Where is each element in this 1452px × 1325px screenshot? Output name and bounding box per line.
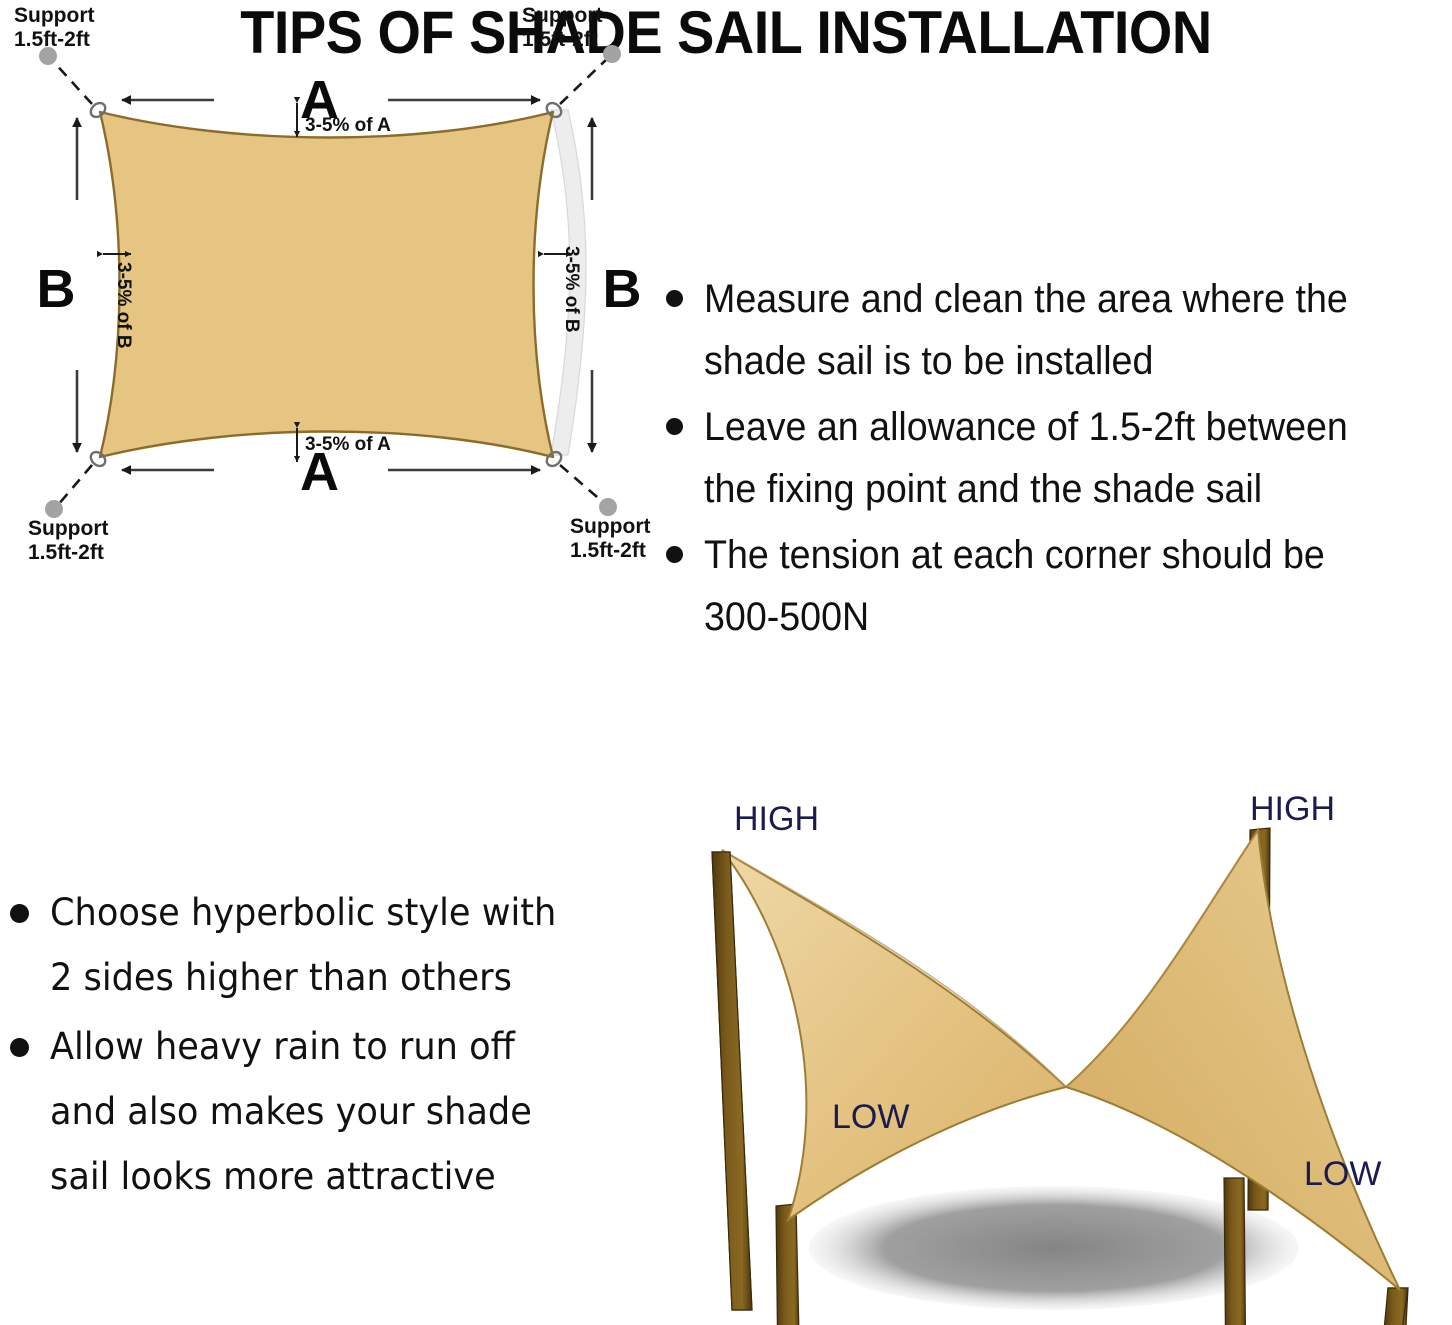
hyperbolic-tips-list: Choose hyperbolic style with 2 sides hig… <box>0 880 640 1260</box>
tip-line: 300-500N <box>704 586 1407 648</box>
support-label-bottom-right: Support 1.5ft-2ft <box>570 515 650 562</box>
tolerance-b-text: 3-5% of B <box>113 262 134 349</box>
tip-line: 2 sides higher than others <box>50 945 611 1010</box>
sail-membrane <box>100 112 553 457</box>
list-item: Leave an allowance of 1.5-2ft between th… <box>648 396 1452 520</box>
dimension-b-left: B <box>37 118 78 452</box>
tip-line: The tension at each corner should be <box>704 524 1407 586</box>
support-label-line1: Support <box>570 515 650 538</box>
support-label-line2: 1.5ft-2ft <box>522 28 598 51</box>
dimension-b-label: B <box>37 259 76 319</box>
support-label-line1: Support <box>14 4 94 27</box>
tolerance-a-text: 3-5% of A <box>305 434 391 455</box>
tolerance-b-right: 3-5% of B <box>544 246 582 333</box>
tolerance-b-text: 3-5% of B <box>561 246 582 333</box>
support-label-bottom-left: Support 1.5ft-2ft <box>28 517 108 564</box>
support-label-line1: Support <box>522 4 602 27</box>
tip-line: Leave an allowance of 1.5-2ft between <box>704 396 1407 458</box>
post-low-right-rear <box>1224 1178 1246 1325</box>
support-label-line1: Support <box>28 517 108 540</box>
support-label-line2: 1.5ft-2ft <box>28 541 104 564</box>
support-label-top-left: Support 1.5ft-2ft <box>14 4 94 51</box>
installation-tips-list: Measure and clean the area where the sha… <box>648 268 1452 668</box>
dimension-b-label: B <box>603 259 642 319</box>
tip-line: the fixing point and the shade sail <box>704 458 1407 520</box>
support-label-line2: 1.5ft-2ft <box>570 539 646 562</box>
bullet-dot-icon <box>666 546 683 563</box>
hyperbolic-sail-illustration: HIGH HIGH LOW LOW <box>672 790 1452 1325</box>
tips-list: Measure and clean the area where the sha… <box>648 268 1452 648</box>
label-high-right: HIGH <box>1250 790 1335 828</box>
tip-line: shade sail is to be installed <box>704 330 1407 392</box>
tolerance-b-left: 3-5% of B <box>103 254 134 349</box>
label-high-left: HIGH <box>734 800 819 838</box>
dimension-b-right: B <box>592 118 642 452</box>
bullet-dot-icon <box>666 418 683 435</box>
list-item: Measure and clean the area where the sha… <box>648 268 1452 392</box>
label-low-left: LOW <box>832 1098 909 1136</box>
post-low-left <box>776 1204 800 1325</box>
shade-sail-dimension-diagram: Support 1.5ft-2ft Support 1.5ft-2ft Supp… <box>0 0 660 580</box>
tip-line: sail looks more attractive <box>50 1144 611 1209</box>
support-label-top-right: Support 1.5ft-2ft <box>522 4 602 51</box>
list-item: Choose hyperbolic style with 2 sides hig… <box>0 880 640 1010</box>
tip-line: Allow heavy rain to run off <box>50 1014 611 1079</box>
label-low-right: LOW <box>1304 1155 1381 1193</box>
tips-list: Choose hyperbolic style with 2 sides hig… <box>0 880 640 1209</box>
sail-lobe-left <box>722 850 1066 1220</box>
tip-line: Choose hyperbolic style with <box>50 880 611 945</box>
tip-line: and also makes your shade <box>50 1079 611 1144</box>
support-label-line2: 1.5ft-2ft <box>14 28 90 51</box>
tip-line: Measure and clean the area where the <box>704 268 1407 330</box>
bullet-dot-icon <box>10 1038 29 1057</box>
list-item: Allow heavy rain to run off and also mak… <box>0 1014 640 1209</box>
list-item: The tension at each corner should be 300… <box>648 524 1452 648</box>
bullet-dot-icon <box>666 290 683 307</box>
tolerance-a-text: 3-5% of A <box>305 115 391 136</box>
post-high-left-front-overlap <box>712 852 752 1310</box>
bullet-dot-icon <box>10 904 29 923</box>
